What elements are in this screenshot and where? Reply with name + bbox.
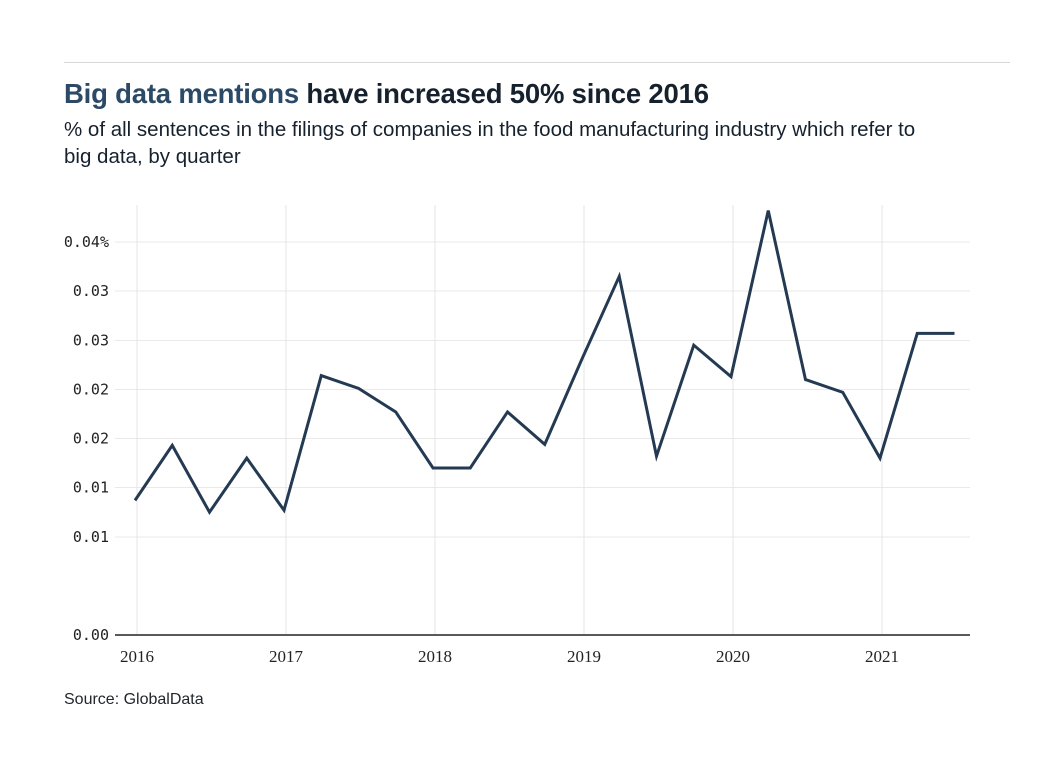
vertical-gridlines [137,205,882,635]
page-title-highlight: Big data mentions [64,78,299,109]
y-tick-label: 0.01 [73,479,109,497]
x-axis-tick-labels: 201620172018201920202021 [120,647,899,666]
y-tick-label: 0.01 [73,528,109,546]
data-series-line [135,211,955,513]
chart-header: Big data mentions have increased 50% sin… [64,78,964,171]
y-tick-label: 0.02 [73,380,109,398]
x-tick-label: 2019 [567,647,601,666]
chart-subtitle: % of all sentences in the filings of com… [64,116,924,170]
y-tick-label: 0.00 [73,626,109,644]
page-title: Big data mentions have increased 50% sin… [64,78,964,110]
header-divider [64,62,1010,63]
y-tick-label: 0.03 [73,282,109,300]
y-tick-label: 0.02 [73,430,109,448]
x-tick-label: 2020 [716,647,750,666]
chart-page: Big data mentions have increased 50% sin… [0,0,1038,778]
y-tick-label: 0.03 [73,331,109,349]
x-tick-label: 2016 [120,647,154,666]
x-tick-label: 2021 [865,647,899,666]
y-tick-label: 0.04% [64,233,109,251]
page-title-rest: have increased 50% since 2016 [299,78,709,109]
horizontal-gridlines [115,242,970,537]
source-note: Source: GlobalData [64,691,204,709]
y-axis-tick-labels: 0.04%0.030.030.020.020.010.010.00 [64,233,109,644]
x-tick-label: 2018 [418,647,452,666]
x-tick-label: 2017 [269,647,304,666]
